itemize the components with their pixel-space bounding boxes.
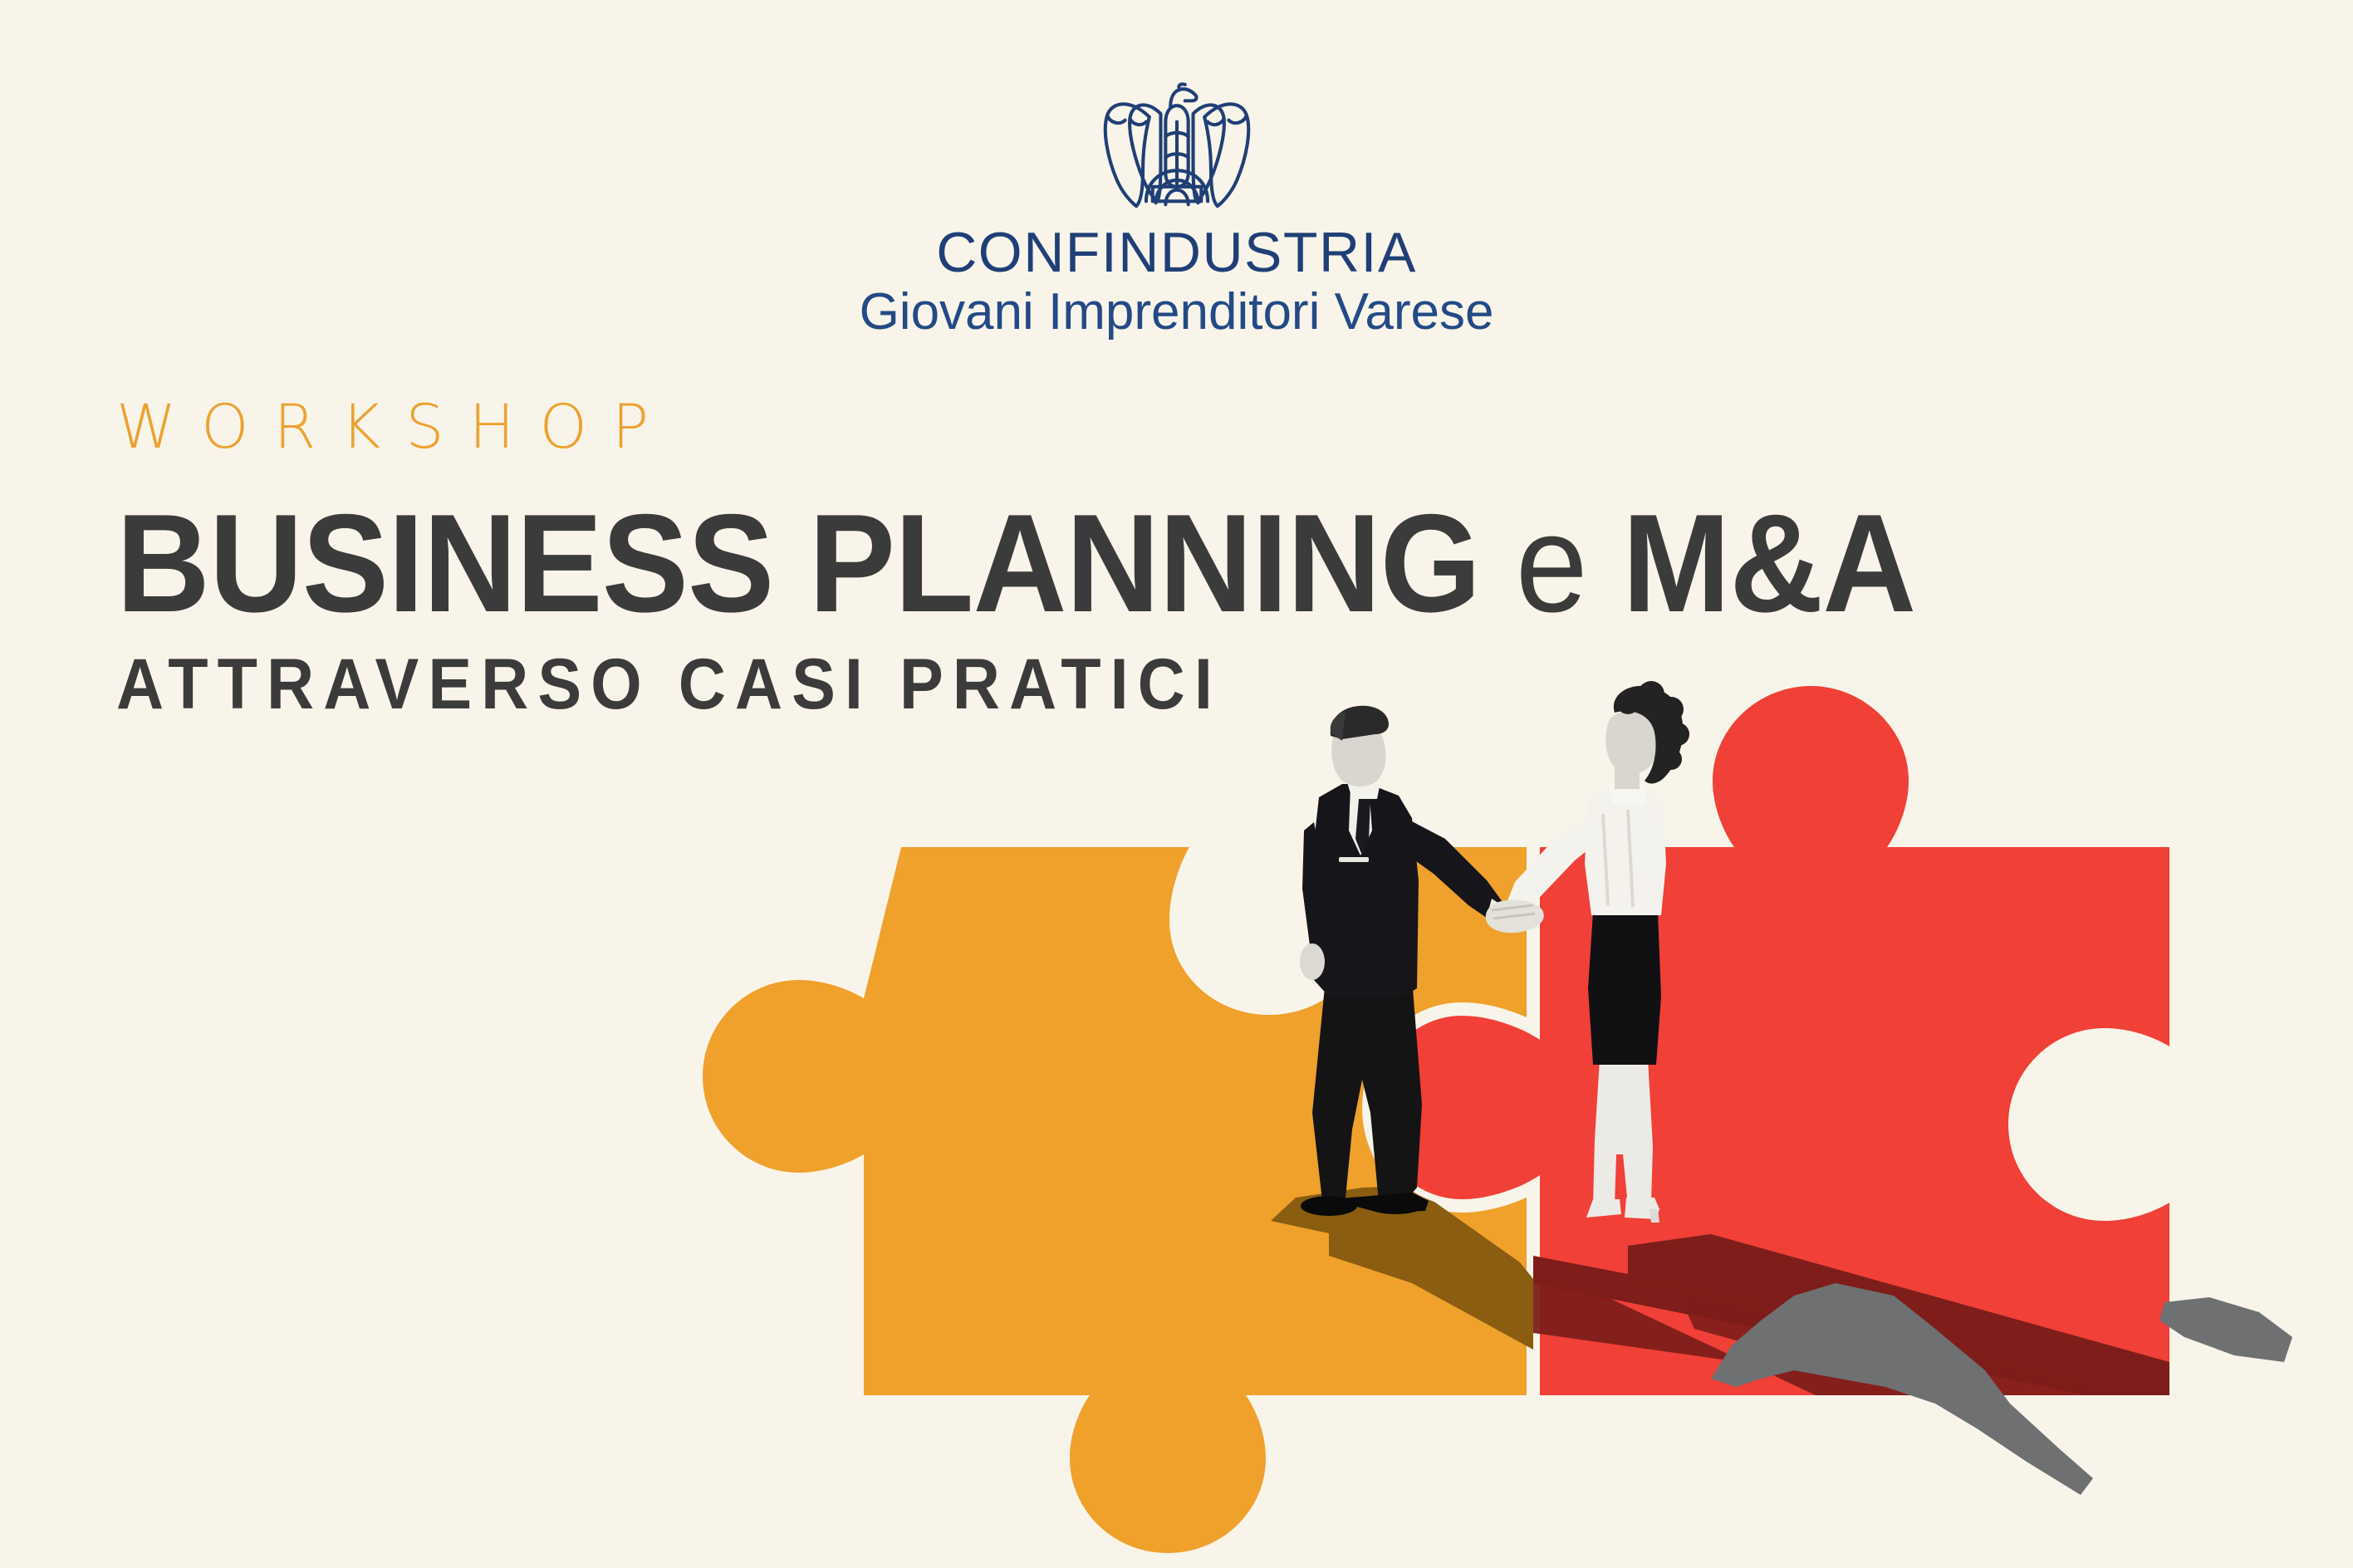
businessman-figure: [1300, 706, 1512, 1216]
headline-text-block: WORKSHOP BUSINESS PLANNING e M&A ATTRAVE…: [116, 397, 2276, 720]
confindustria-logo: CONFINDUSTRIA Giovani Imprenditori Vares…: [0, 80, 2353, 339]
logo-chapter-name: Giovani Imprenditori Varese: [0, 285, 2353, 339]
poster-canvas: CONFINDUSTRIA Giovani Imprenditori Vares…: [0, 0, 2353, 1568]
ground-shadow: [1711, 1283, 2292, 1495]
title-conjunction: e: [1516, 485, 1587, 641]
handshake-icon: [1486, 900, 1544, 933]
man-shadow-on-orange: [1271, 1186, 1533, 1350]
logo-organization-name: CONFINDUSTRIA: [0, 224, 2353, 282]
businesswoman-figure: [1505, 681, 1689, 1223]
puzzle-seam: [1369, 847, 1533, 1395]
title-main: BUSINESS PLANNING: [116, 485, 1480, 641]
title-tail: M&A: [1622, 485, 1915, 641]
woman-shadow-on-red: [1628, 1234, 2169, 1462]
man-shadow-on-red: [1533, 1256, 2176, 1561]
red-puzzle-piece: [1369, 686, 2169, 1395]
orange-puzzle-piece: [703, 847, 1533, 1553]
page-title: BUSINESS PLANNING e M&A: [116, 497, 2125, 630]
kicker-label: WORKSHOP: [116, 397, 2276, 458]
page-subtitle: ATTRAVERSO CASI PRATICI: [116, 649, 2103, 720]
confindustria-eagle-icon: [1096, 80, 1258, 213]
